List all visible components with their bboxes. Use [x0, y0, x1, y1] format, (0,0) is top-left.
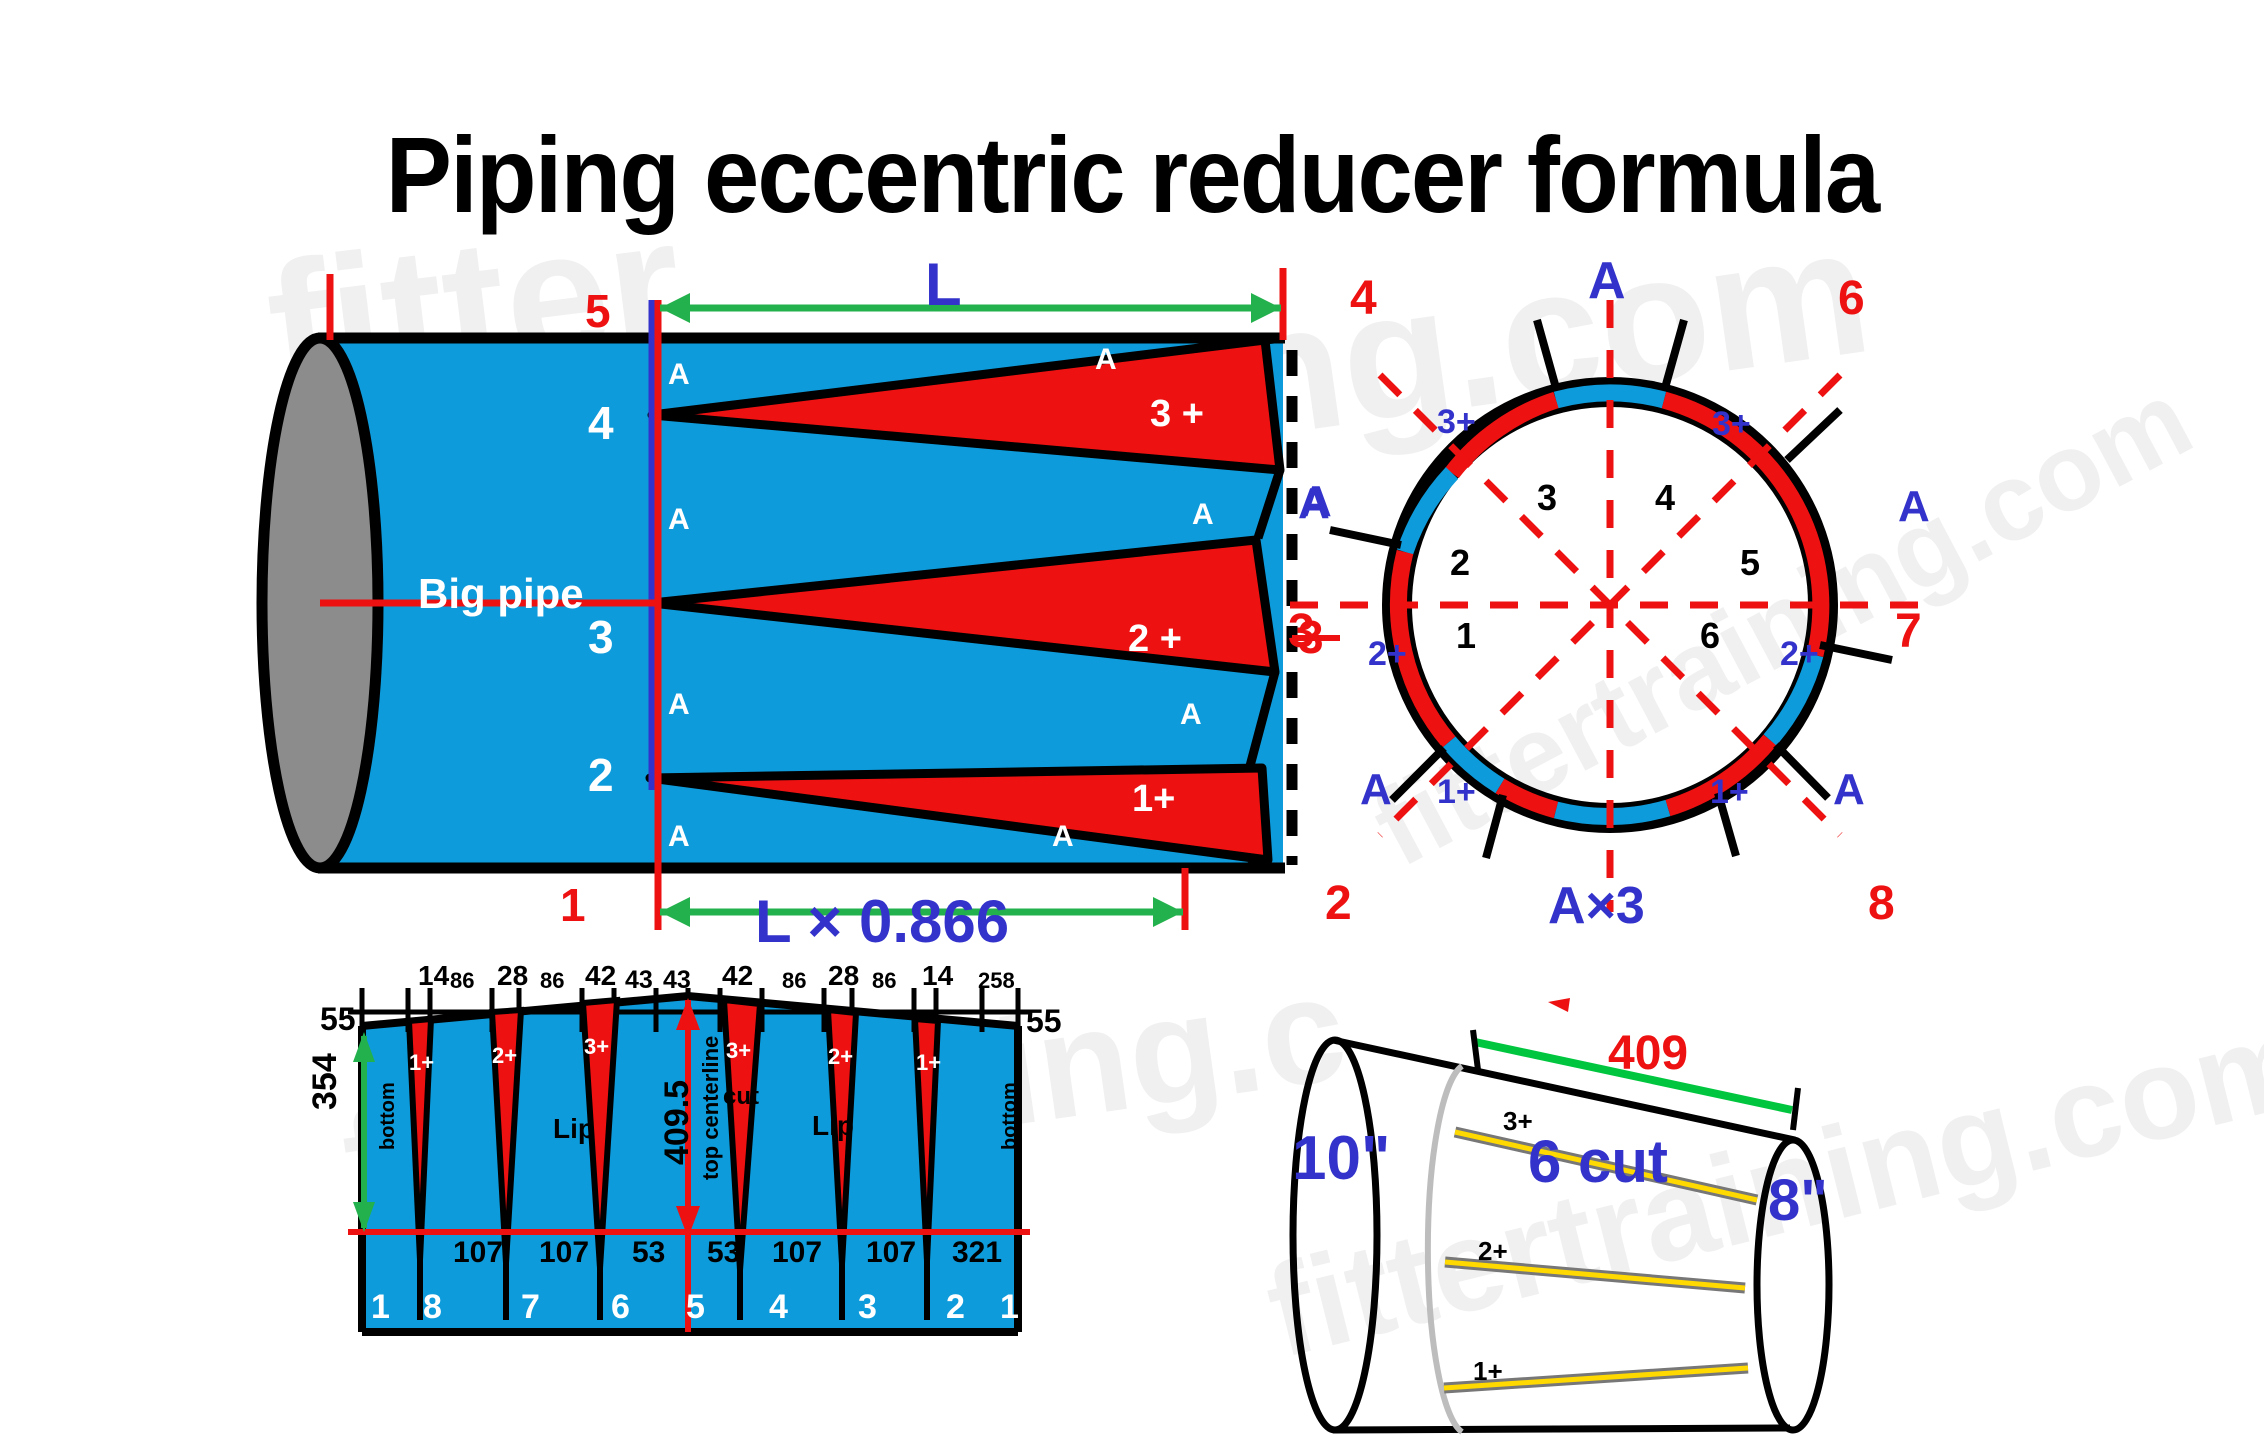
cone-red-marker	[1548, 998, 1570, 1012]
circle-tick-3	[1330, 530, 1401, 545]
cone-cut-label-1plus: 1+	[1473, 1358, 1503, 1384]
segment-letter-a2: A	[1095, 345, 1117, 375]
dev-station-1-right: 1	[1000, 1290, 1019, 1324]
dev-cut-label-1plus-right: 1+	[916, 1052, 941, 1074]
ring-seg-top-blue	[1556, 393, 1664, 400]
dev-topdim-43-left: 43	[625, 968, 653, 993]
dev-bottomdim-53-1: 53	[632, 1238, 665, 1268]
dev-vertical-dim-354: 354	[308, 1053, 342, 1110]
circle-side-label-A-right: A	[1898, 485, 1930, 529]
dev-station-8: 8	[423, 1290, 442, 1324]
dev-station-7: 7	[521, 1290, 540, 1324]
circle-tick-2	[1665, 320, 1684, 388]
wedge-label-3plus: 3 +	[1150, 395, 1204, 433]
circle-side-label-A-left: A	[1298, 482, 1330, 526]
cone-top-line	[1333, 1040, 1795, 1140]
segment-letter-a4: A	[1192, 500, 1214, 530]
station-label-4: 4	[588, 400, 614, 446]
dim-L866-arrow-left	[660, 897, 690, 927]
dev-height-left-55: 55	[320, 1003, 356, 1035]
dev-topdim-14-left: 14	[418, 962, 449, 990]
wedge-label-2plus: 2 +	[1128, 620, 1182, 658]
cone-small-dia-label: 8"	[1768, 1172, 1828, 1230]
circle-outer-number-8: 8	[1868, 880, 1895, 928]
segment-letter-a3: A	[668, 505, 690, 535]
dev-bottomdim-107-3: 107	[772, 1238, 822, 1268]
circle-arc-label-1plus-left: 1+	[1437, 775, 1476, 809]
cone-center-label: 6 cut	[1528, 1132, 1668, 1192]
cone-cut-label-2plus: 2+	[1478, 1238, 1508, 1264]
circle-top-label-A: A	[1588, 255, 1626, 307]
circle-outer-number-6: 6	[1838, 275, 1865, 323]
dev-topdim-86-1: 86	[450, 970, 474, 992]
segment-letter-a7: A	[668, 822, 690, 852]
circle-inner-number-4: 4	[1655, 480, 1675, 516]
circle-outer-number-4: 4	[1350, 275, 1377, 323]
dim-L866-label: L × 0.866	[755, 892, 1009, 952]
dev-cut-label-2plus-right: 2+	[828, 1046, 853, 1068]
cone-bottom-line	[1333, 1428, 1790, 1430]
cone-view-group	[1293, 998, 1829, 1432]
cone-dim-409-tick-left	[1473, 1030, 1478, 1070]
dev-topdim-14-right: 14	[922, 962, 953, 990]
dev-station-5: 5	[686, 1290, 705, 1324]
cone-cut-label-3plus: 3+	[1503, 1108, 1533, 1134]
wedge-label-1plus: 1+	[1132, 780, 1175, 818]
dev-station-3: 3	[858, 1290, 877, 1324]
dev-bottomdim-321: 321	[952, 1238, 1002, 1268]
circle-bottom-label-Ax3: A×3	[1548, 880, 1645, 932]
dim-L-label: L	[925, 255, 962, 315]
dev-edge-note-left: bottom	[378, 1082, 398, 1150]
dev-topdim-42-right: 42	[722, 962, 753, 990]
dev-cut-label-2plus-left: 2+	[492, 1045, 517, 1067]
diagram-canvas	[0, 0, 2264, 1448]
cone-big-dia-label: 10"	[1292, 1128, 1390, 1190]
dev-station-1-left: 1	[371, 1290, 390, 1324]
circle-arc-label-2plus-left: 2+	[1368, 637, 1407, 671]
circle-inner-number-3: 3	[1537, 480, 1557, 516]
dev-bottomdim-53-2: 53	[707, 1238, 740, 1268]
dev-lip-label-right: Lip	[812, 1112, 854, 1140]
circle-inner-number-6: 6	[1700, 618, 1720, 654]
circle-side-label-A-bottomright: A	[1833, 768, 1865, 812]
segment-letter-a6: A	[1180, 700, 1202, 730]
dev-topdim-86-3: 86	[782, 970, 806, 992]
dev-topdim-258: 258	[978, 970, 1015, 992]
circle-arc-label-2plus-right: 2+	[1780, 637, 1819, 671]
circle-arc-label-3plus-right: 3+	[1712, 407, 1751, 441]
segment-letter-a5: A	[668, 690, 690, 720]
cone-big-end-back	[1335, 1040, 1377, 1430]
segment-letter-a8: A	[1052, 822, 1074, 852]
circle-outer-number-2: 2	[1325, 880, 1352, 928]
dim-L-arrow-right	[1251, 293, 1281, 323]
circle-arc-label-1plus-right: 1+	[1710, 775, 1749, 809]
circle-outer-number-3: 3	[1288, 608, 1315, 656]
dev-topdim-42-left: 42	[585, 962, 616, 990]
dev-edge-note-right: bottom	[1000, 1082, 1020, 1150]
dev-center-dim-409: 409.5	[660, 1080, 694, 1165]
dev-station-6: 6	[611, 1290, 630, 1324]
station-label-5: 5	[585, 288, 611, 334]
dev-cut-note: cut	[723, 1085, 759, 1109]
dev-topdim-43-right: 43	[663, 968, 691, 993]
station-label-3: 3	[588, 614, 614, 660]
station-label-2: 2	[588, 752, 614, 798]
circle-inner-number-5: 5	[1740, 545, 1760, 581]
dev-center-note: top centerline	[700, 1036, 722, 1180]
dev-topdim-28-right: 28	[828, 962, 859, 990]
dev-station-2: 2	[946, 1290, 965, 1324]
dev-topdim-86-4: 86	[872, 970, 896, 992]
circle-tick-6	[1776, 745, 1828, 798]
dim-L866-arrow-right	[1153, 897, 1183, 927]
dev-bottomdim-107-1: 107	[453, 1238, 503, 1268]
cone-big-end	[1293, 1040, 1335, 1430]
circle-arc-label-3plus-left: 3+	[1437, 405, 1476, 439]
big-pipe-label: Big pipe	[418, 573, 584, 615]
circle-inner-number-2: 2	[1450, 545, 1470, 581]
segment-letter-a1: A	[668, 360, 690, 390]
station-label-1: 1	[560, 882, 586, 928]
circle-tick-7	[1486, 795, 1503, 858]
dev-topdim-86-2: 86	[540, 970, 564, 992]
dev-cut-label-3plus-left: 3+	[584, 1036, 609, 1058]
cone-inner-arc	[1428, 1066, 1462, 1432]
dev-bottomdim-107-2: 107	[539, 1238, 589, 1268]
dev-bottomdim-107-4: 107	[866, 1238, 916, 1268]
circle-side-label-A-bottomleft: A	[1360, 768, 1392, 812]
circle-inner-number-1: 1	[1456, 618, 1476, 654]
dev-station-4: 4	[769, 1290, 788, 1324]
dev-height-right-55: 55	[1026, 1005, 1062, 1037]
circle-tick-1	[1537, 320, 1556, 388]
dev-lip-label-left: Lip	[553, 1115, 595, 1143]
dev-cut-label-1plus-left: 1+	[409, 1052, 434, 1074]
circle-outer-number-7: 7	[1895, 608, 1922, 656]
circle-view-group	[1290, 300, 1930, 912]
dev-topdim-28-left: 28	[497, 962, 528, 990]
dim-L-arrow-left	[660, 293, 690, 323]
cone-dim-409-tick-right	[1793, 1088, 1798, 1130]
dev-cut-label-3plus-right: 3+	[726, 1040, 751, 1062]
cone-length-label-409: 409	[1608, 1030, 1688, 1078]
